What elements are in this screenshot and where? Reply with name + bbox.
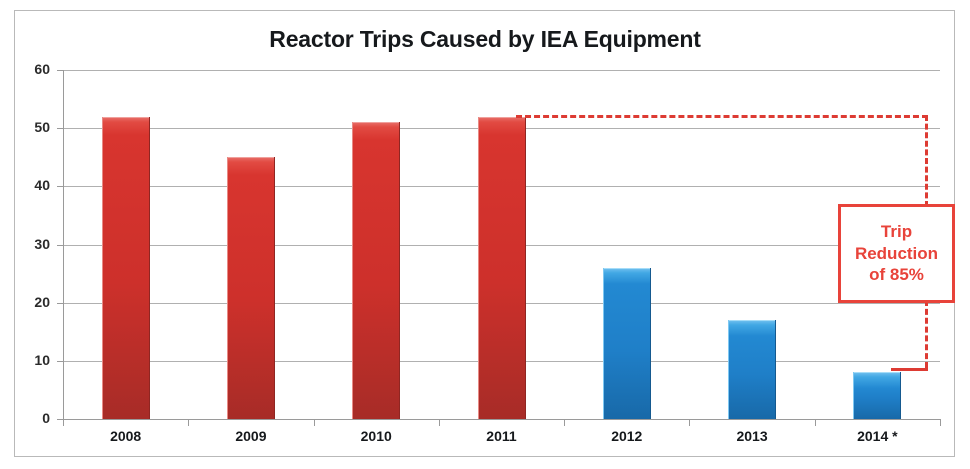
callout-dash-vertical-upper (925, 115, 928, 207)
x-tick-mark (940, 419, 941, 426)
y-tick-label: 30 (8, 236, 50, 252)
bar-2008 (102, 117, 150, 419)
y-tick-label: 0 (8, 410, 50, 426)
x-tick-label-2008: 2008 (63, 428, 188, 444)
gridline (63, 70, 940, 71)
callout-dash-horizontal (516, 115, 928, 118)
x-tick-label-2009: 2009 (188, 428, 313, 444)
callout-line-3: of 85% (869, 264, 924, 286)
chart-title: Reactor Trips Caused by IEA Equipment (0, 26, 970, 53)
x-tick-mark (314, 419, 315, 426)
chart-container: Reactor Trips Caused by IEA Equipment 01… (0, 0, 970, 469)
x-tick-label-2012: 2012 (564, 428, 689, 444)
y-tick-label: 60 (8, 61, 50, 77)
y-tick-label: 40 (8, 177, 50, 193)
x-tick-mark (63, 419, 64, 426)
x-tick-label-2011: 2011 (439, 428, 564, 444)
callout-line-1: Trip (881, 221, 912, 243)
x-tick-mark (439, 419, 440, 426)
y-tick-label: 50 (8, 119, 50, 135)
callout-dash-vertical-lower (925, 300, 928, 368)
bar-2012 (603, 268, 651, 419)
x-tick-mark (689, 419, 690, 426)
callout-line-2: Reduction (855, 243, 938, 265)
y-axis-line (63, 70, 64, 419)
x-tick-label-2010: 2010 (314, 428, 439, 444)
x-tick-label-2014: 2014 * (815, 428, 940, 444)
callout-dash-stub-bottom (891, 368, 928, 371)
bar-2009 (227, 157, 275, 419)
x-tick-mark (564, 419, 565, 426)
x-tick-mark (815, 419, 816, 426)
bar-2013 (728, 320, 776, 419)
y-tick-label: 10 (8, 352, 50, 368)
x-axis-line (63, 419, 941, 420)
x-tick-label-2013: 2013 (689, 428, 814, 444)
bar-2010 (352, 122, 400, 419)
trip-reduction-callout: Trip Reduction of 85% (838, 204, 955, 303)
y-tick-label: 20 (8, 294, 50, 310)
bar-2014 (853, 372, 901, 419)
x-tick-mark (188, 419, 189, 426)
bar-2011 (478, 117, 526, 419)
